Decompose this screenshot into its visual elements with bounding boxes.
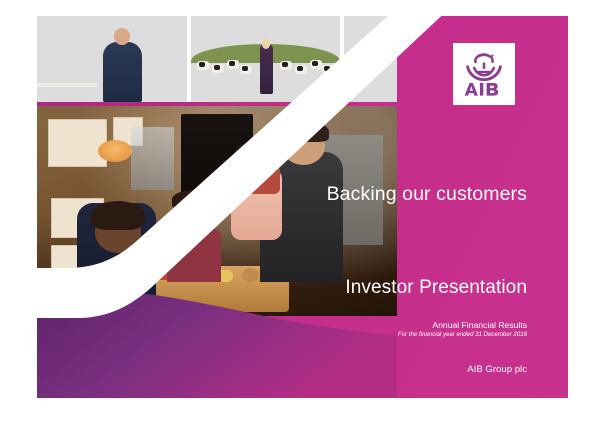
photo-garden-centre-man [37, 16, 187, 102]
cow [227, 60, 239, 69]
man-body [103, 42, 142, 102]
cow [295, 65, 307, 74]
aib-wordmark [465, 83, 499, 96]
toddler-hair [235, 142, 278, 161]
father-hair [278, 121, 328, 142]
cow [310, 60, 322, 69]
photo-balloons-shop [344, 16, 397, 102]
shelf-rail [37, 83, 97, 87]
aib-logo [453, 43, 515, 105]
company-name: AIB Group plc [197, 363, 527, 376]
child-hair [172, 190, 215, 209]
slide-canvas: Backing our customers Investor Presentat… [0, 0, 600, 425]
wall-picture [48, 119, 108, 167]
mother-hair [91, 201, 145, 230]
slide-title: Backing our customers [227, 182, 527, 207]
window [131, 127, 174, 190]
cow [322, 65, 334, 74]
cow [212, 64, 224, 73]
slide-subtitle: Investor Presentation [197, 275, 527, 301]
pendant-lamp [98, 140, 132, 162]
cow [197, 61, 209, 70]
farmer-head [262, 38, 271, 48]
cow [240, 65, 252, 74]
photo-strip [37, 16, 397, 102]
cow [280, 61, 292, 70]
farmer-body [260, 44, 273, 94]
photo-collage [37, 16, 397, 316]
reporting-period: For the financial year ended 31 December… [197, 330, 527, 339]
ark-bird-icon [466, 53, 502, 81]
presentation-title-slide: Backing our customers Investor Presentat… [37, 16, 568, 398]
photo-farmer-cows-field [191, 16, 339, 102]
